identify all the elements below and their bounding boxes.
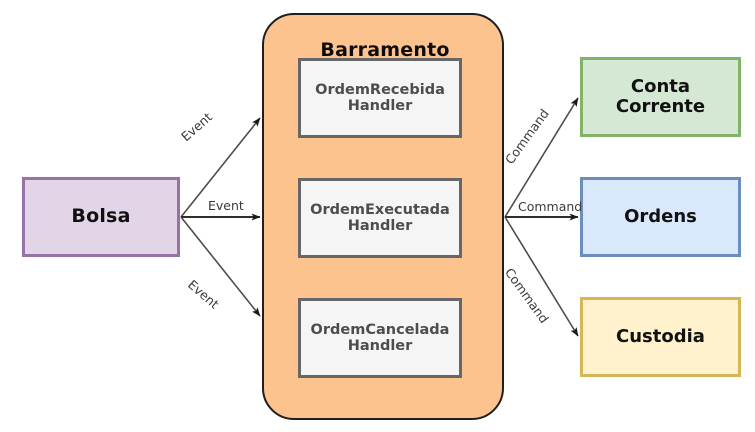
edge-label-event-top: Event bbox=[178, 109, 215, 144]
node-conta-corrente[interactable]: Conta Corrente bbox=[580, 57, 741, 137]
edge-label-event-middle: Event bbox=[208, 198, 244, 213]
node-bolsa-label: Bolsa bbox=[71, 206, 130, 227]
handler-label: OrdemRecebida Handler bbox=[315, 82, 445, 114]
edge-label-event-bottom: Event bbox=[185, 277, 222, 312]
handler-label-line1: OrdemRecebida bbox=[315, 82, 445, 98]
service-label-line2: Corrente bbox=[616, 96, 705, 117]
handler-label-line2: Handler bbox=[348, 218, 413, 234]
handler-label: OrdemExecutada Handler bbox=[310, 202, 450, 234]
handler-label-line1: OrdemCancelada bbox=[311, 322, 450, 338]
handler-label: OrdemCancelada Handler bbox=[311, 322, 450, 354]
node-bolsa[interactable]: Bolsa bbox=[22, 177, 180, 257]
node-ordem-recebida-handler[interactable]: OrdemRecebida Handler bbox=[298, 58, 462, 138]
node-conta-corrente-label: Conta Corrente bbox=[616, 77, 705, 117]
handler-label-line2: Handler bbox=[348, 338, 413, 354]
handler-label-line2: Handler bbox=[348, 98, 413, 114]
node-ordem-cancelada-handler[interactable]: OrdemCancelada Handler bbox=[298, 298, 462, 378]
edge-label-command-middle: Command bbox=[518, 199, 582, 214]
edge-label-command-bottom: Command bbox=[502, 265, 552, 326]
node-ordens-label: Ordens bbox=[624, 207, 697, 227]
node-custodia[interactable]: Custodia bbox=[580, 297, 741, 377]
edge-label-command-top: Command bbox=[502, 106, 552, 167]
service-label-line1: Conta bbox=[631, 76, 690, 97]
diagram-canvas: Bolsa Barramento OrdemRecebida Handler O… bbox=[0, 0, 755, 432]
node-custodia-label: Custodia bbox=[616, 327, 705, 347]
node-ordens[interactable]: Ordens bbox=[580, 177, 741, 257]
node-ordem-executada-handler[interactable]: OrdemExecutada Handler bbox=[298, 178, 462, 258]
handler-label-line1: OrdemExecutada bbox=[310, 202, 450, 218]
